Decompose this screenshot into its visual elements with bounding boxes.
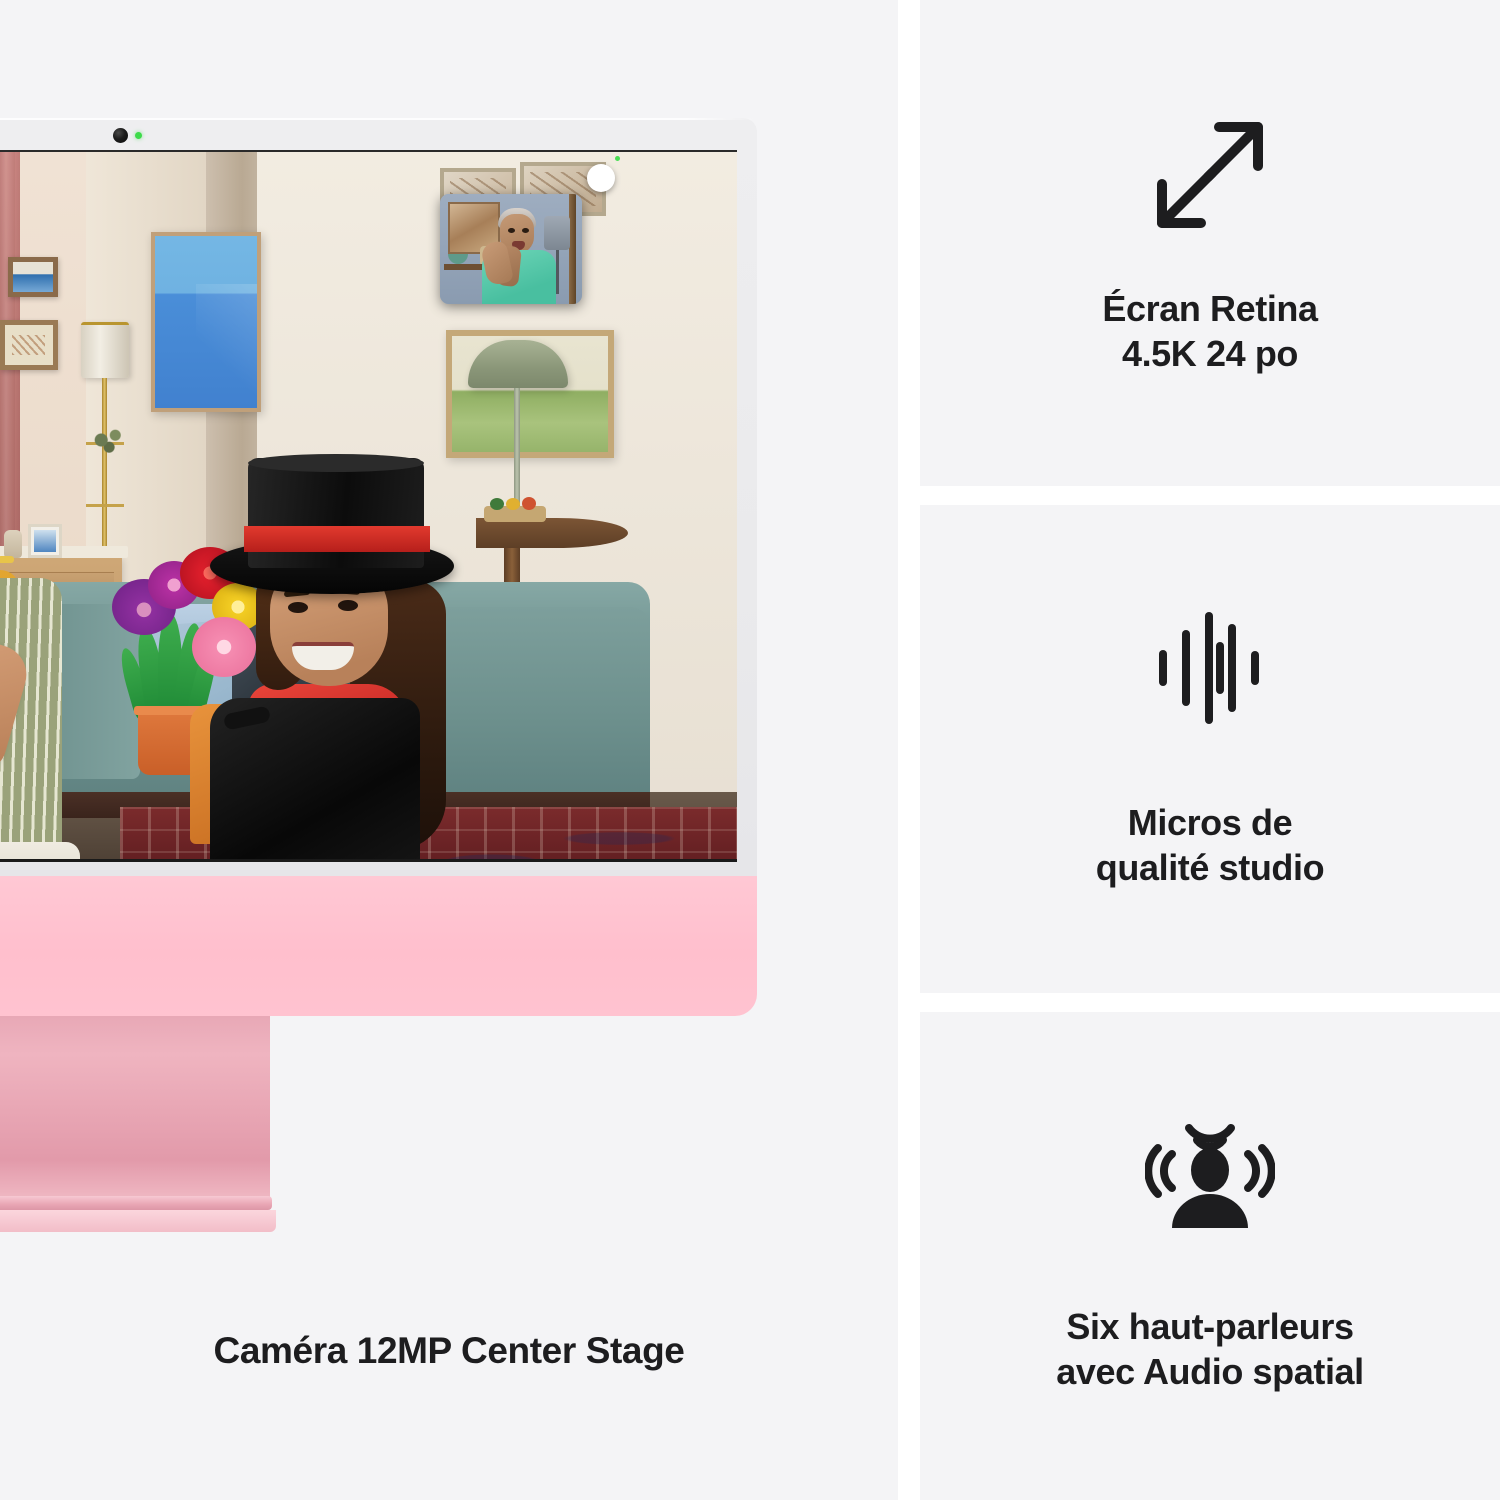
plant (88, 420, 132, 460)
feature-panel-mics: Micros de qualité studio (920, 505, 1500, 993)
blue-painting (151, 232, 261, 412)
camera-indicator-light-icon (135, 132, 142, 139)
facetime-video-scene (0, 152, 737, 862)
waveform-icon (1150, 608, 1270, 728)
imac-device (0, 118, 757, 1218)
screen-recording-indicator-icon (615, 156, 620, 161)
imac-stand (0, 1016, 270, 1208)
camera-icon (113, 128, 128, 143)
feature-panel-display: Écran Retina 4.5K 24 po (920, 0, 1500, 486)
facetime-control-button[interactable] (587, 164, 615, 192)
framed-picture-small-1 (8, 257, 58, 297)
girl-magician (200, 452, 520, 862)
woman-clapping (0, 342, 90, 862)
feature-panel-speakers: Six haut-parleurs avec Audio spatial (920, 1012, 1500, 1500)
imac-chin (0, 876, 757, 1016)
imac-stand-lip (0, 1196, 272, 1210)
floor-lamp-pole (102, 378, 107, 568)
camera-feature-caption: Caméra 12MP Center Stage (0, 1330, 898, 1372)
feature-title-speakers: Six haut-parleurs avec Audio spatial (1056, 1304, 1364, 1395)
imac-stand-foot (0, 1210, 276, 1232)
spatial-audio-person-icon (1145, 1118, 1275, 1248)
left-product-panel: Caméra 12MP Center Stage (0, 0, 898, 1500)
floor-lamp-shelf-2 (86, 504, 124, 507)
imac-screen (0, 150, 737, 862)
feature-title-mics: Micros de qualité studio (1096, 800, 1324, 891)
facetime-pip-self-view[interactable] (440, 194, 582, 304)
expand-diagonal-icon (1145, 110, 1275, 240)
feature-title-display: Écran Retina 4.5K 24 po (1102, 286, 1317, 377)
fruit-orange (522, 497, 536, 510)
